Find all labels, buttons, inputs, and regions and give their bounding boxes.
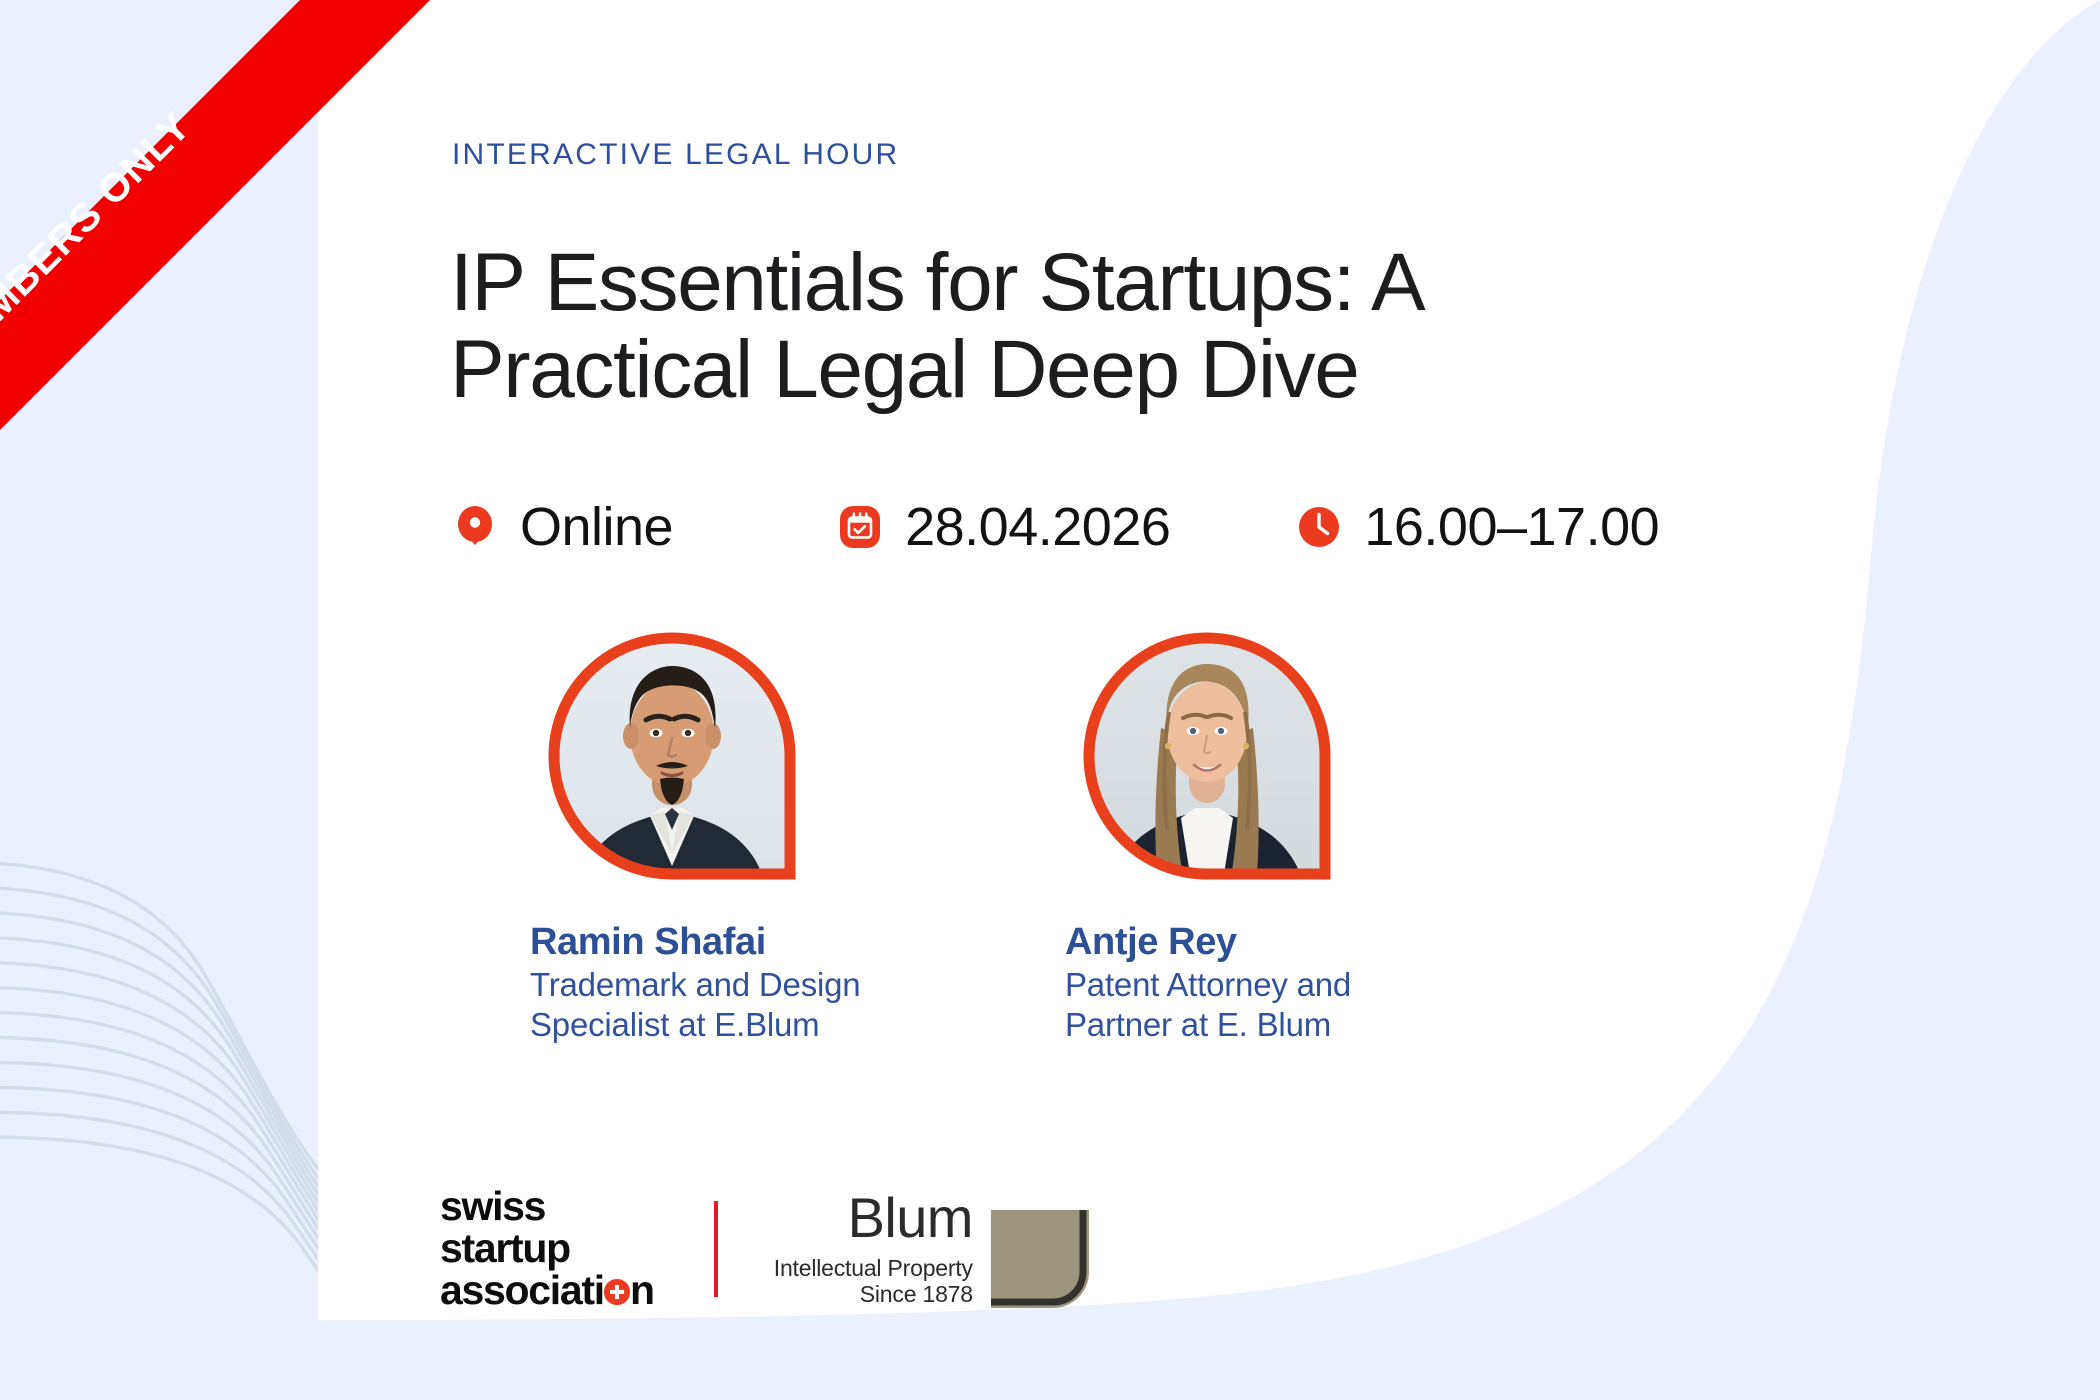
meta-time: 16.00–17.00: [1296, 500, 1659, 554]
swiss-startup-association-logo: swiss startup associatin: [440, 1186, 654, 1311]
blum-square-mark: [991, 1210, 1089, 1308]
meta-date: 28.04.2026: [837, 500, 1170, 554]
speaker-role: Patent Attorney and Partner at E. Blum: [1065, 965, 1445, 1046]
ssa-line-3: associatin: [440, 1270, 654, 1312]
speakers-list: Ramin Shafai Trademark and Design Specia…: [530, 616, 1445, 1046]
speaker-card: Antje Rey Patent Attorney and Partner at…: [1065, 616, 1445, 1046]
speaker-card: Ramin Shafai Trademark and Design Specia…: [530, 616, 910, 1046]
avatar: [532, 616, 812, 898]
eyebrow-label: INTERACTIVE LEGAL HOUR: [452, 138, 899, 172]
footer-logos: swiss startup associatin Blum Intellectu…: [440, 1186, 1089, 1311]
blum-tagline: Intellectual Property Since 1878: [774, 1255, 973, 1308]
location-pin-icon: [452, 504, 498, 550]
speaker-role: Trademark and Design Specialist at E.Blu…: [530, 965, 910, 1046]
meta-date-value: 28.04.2026: [905, 500, 1170, 554]
ssa-line-3-after: n: [630, 1267, 654, 1313]
swiss-cross-icon: [604, 1279, 629, 1304]
clock-icon: [1296, 504, 1342, 550]
avatar: [1067, 616, 1347, 898]
meta-location: Online: [452, 500, 673, 554]
poster-content: INTERACTIVE LEGAL HOUR IP Essentials for…: [452, 0, 1872, 1400]
page-title: IP Essentials for Startups: A Practical …: [450, 240, 1680, 414]
speaker-name: Ramin Shafai: [530, 922, 910, 963]
meta-location-value: Online: [520, 500, 673, 554]
event-meta-row: Online 28.04.2026 16.00–17.00: [452, 500, 1659, 554]
ssa-line-1: swiss: [440, 1186, 654, 1228]
portrait-antje-rey: [1067, 616, 1347, 898]
ssa-line-2: startup: [440, 1228, 654, 1270]
blum-logo: Blum Intellectual Property Since 1878: [774, 1190, 1089, 1308]
ssa-line-3-before: associati: [440, 1267, 604, 1313]
calendar-icon: [837, 504, 883, 550]
logo-divider: [714, 1201, 718, 1297]
meta-time-value: 16.00–17.00: [1364, 500, 1659, 554]
blum-wordmark: Blum: [774, 1190, 973, 1246]
speaker-name: Antje Rey: [1065, 922, 1445, 963]
portrait-ramin-shafai: [532, 616, 812, 898]
